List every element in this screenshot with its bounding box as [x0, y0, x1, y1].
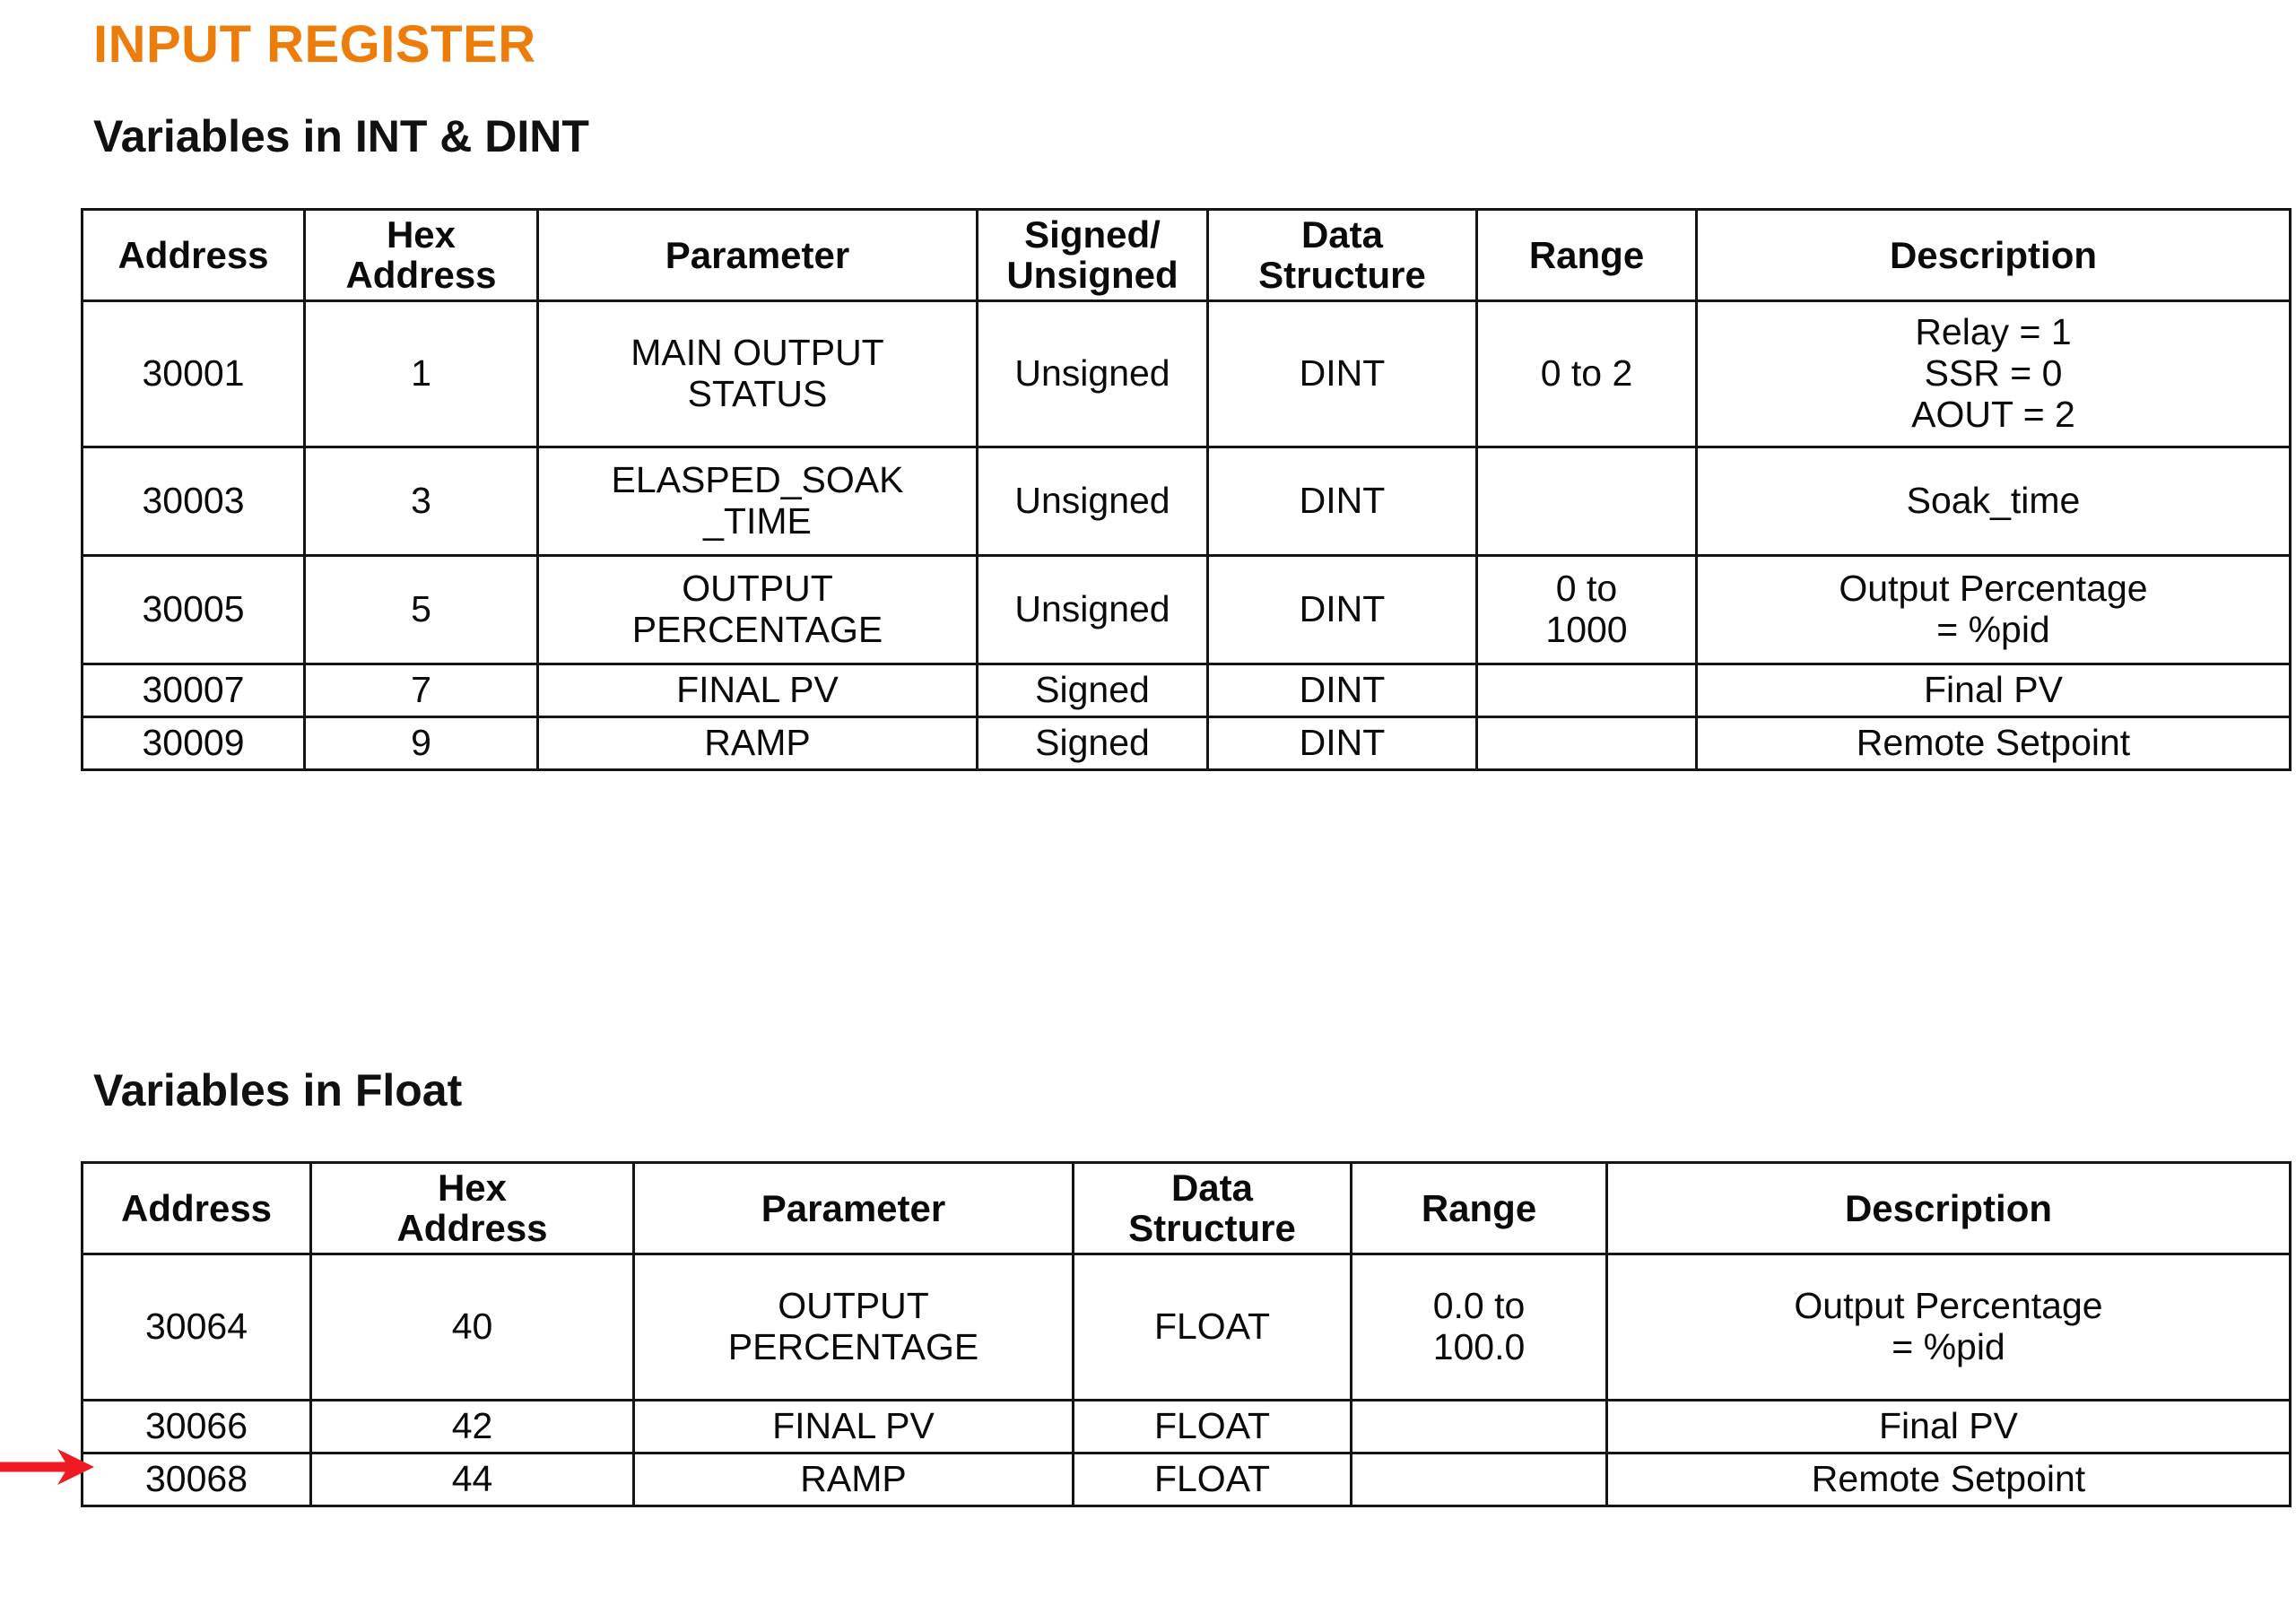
cell-signed-unsigned: Unsigned: [978, 447, 1208, 555]
cell-parameter: ELASPED_SOAK _TIME: [538, 447, 978, 555]
cell-range: [1477, 664, 1697, 716]
cell-line2: 1000: [1545, 609, 1627, 650]
column-header-address: Address: [83, 210, 305, 301]
section-heading-float: Variables in Float: [93, 1067, 462, 1115]
cell-address: 30005: [83, 555, 305, 664]
table-row: 30003 3 ELASPED_SOAK _TIME Unsigned DINT…: [83, 447, 2291, 555]
cell-hex-address: 9: [305, 716, 538, 769]
header-label: Address: [121, 1187, 272, 1229]
cell-hex-address: 42: [311, 1400, 634, 1453]
cell-range: [1352, 1453, 1607, 1506]
cell-range: 0.0 to 100.0: [1352, 1254, 1607, 1400]
header-label: Range: [1422, 1187, 1536, 1229]
cell-parameter: FINAL PV: [634, 1400, 1074, 1453]
column-header-data-structure: Data Structure: [1208, 210, 1477, 301]
table-header-row: Address Hex Address Parameter Data Struc…: [83, 1163, 2291, 1254]
cell-range: 0 to 2: [1477, 300, 1697, 447]
cell-parameter: OUTPUT PERCENTAGE: [634, 1254, 1074, 1400]
section-heading-int-dint: Variables in INT & DINT: [93, 113, 589, 161]
cell-data-structure: DINT: [1208, 716, 1477, 769]
cell-range: [1477, 716, 1697, 769]
header-label-line2: Address: [396, 1207, 547, 1249]
cell-address: 30068: [83, 1453, 311, 1506]
cell-address: 30066: [83, 1400, 311, 1453]
cell-line1: 0.0 to: [1433, 1285, 1526, 1326]
page-title: INPUT REGISTER: [93, 18, 536, 73]
cell-line2: STATUS: [688, 373, 828, 414]
cell-data-structure: FLOAT: [1074, 1400, 1352, 1453]
cell-line1: OUTPUT: [682, 568, 833, 609]
cell-line1: 0 to: [1556, 568, 1617, 609]
cell-hex-address: 44: [311, 1453, 634, 1506]
column-header-description: Description: [1697, 210, 2291, 301]
header-label-line1: Hex: [438, 1167, 507, 1209]
header-label: Address: [117, 234, 268, 276]
cell-address: 30003: [83, 447, 305, 555]
cell-line1: OUTPUT: [778, 1285, 929, 1326]
document-page: INPUT REGISTER Variables in INT & DINT A…: [0, 0, 2296, 1614]
cell-signed-unsigned: Signed: [978, 716, 1208, 769]
cell-data-structure: DINT: [1208, 555, 1477, 664]
cell-line2: = %pid: [1892, 1326, 2005, 1367]
table-row: 30068 44 RAMP FLOAT Remote Setpoint: [83, 1453, 2291, 1506]
cell-parameter: FINAL PV: [538, 664, 978, 716]
table-row: 30001 1 MAIN OUTPUT STATUS Unsigned DINT…: [83, 300, 2291, 447]
cell-range: 0 to 1000: [1477, 555, 1697, 664]
header-label-line1: Signed/: [1024, 213, 1161, 256]
cell-description: Relay = 1 SSR = 0 AOUT = 2: [1697, 300, 2291, 447]
cell-description: Final PV: [1607, 1400, 2291, 1453]
cell-hex-address: 5: [305, 555, 538, 664]
cell-line3: AOUT = 2: [1911, 394, 2075, 435]
cell-hex-address: 40: [311, 1254, 634, 1400]
cell-description: Soak_time: [1697, 447, 2291, 555]
cell-hex-address: 7: [305, 664, 538, 716]
cell-address: 30001: [83, 300, 305, 447]
cell-line2: _TIME: [703, 500, 812, 542]
cell-range: [1477, 447, 1697, 555]
header-label-line1: Data: [1171, 1167, 1253, 1209]
cell-data-structure: DINT: [1208, 664, 1477, 716]
cell-parameter: RAMP: [634, 1453, 1074, 1506]
cell-line1: MAIN OUTPUT: [631, 332, 883, 373]
header-label: Parameter: [665, 234, 849, 276]
input-register-float-table: Address Hex Address Parameter Data Struc…: [81, 1161, 2292, 1507]
cell-line1: Output Percentage: [1794, 1285, 2102, 1326]
header-label-line1: Data: [1301, 213, 1383, 256]
cell-description: Remote Setpoint: [1697, 716, 2291, 769]
cell-description: Final PV: [1697, 664, 2291, 716]
header-label: Description: [1890, 234, 2097, 276]
header-label: Description: [1845, 1187, 2052, 1229]
header-label: Parameter: [761, 1187, 945, 1229]
cell-data-structure: FLOAT: [1074, 1453, 1352, 1506]
cell-line2: PERCENTAGE: [728, 1326, 978, 1367]
table-row: 30005 5 OUTPUT PERCENTAGE Unsigned DINT …: [83, 555, 2291, 664]
cell-description: Remote Setpoint: [1607, 1453, 2291, 1506]
header-label: Range: [1529, 234, 1644, 276]
cell-line2: 100.0: [1433, 1326, 1526, 1367]
cell-hex-address: 1: [305, 300, 538, 447]
column-header-data-structure: Data Structure: [1074, 1163, 1352, 1254]
cell-line2: SSR = 0: [1925, 352, 2063, 394]
cell-line1: Output Percentage: [1839, 568, 2147, 609]
table-row: 30007 7 FINAL PV Signed DINT Final PV: [83, 664, 2291, 716]
table-header-row: Address Hex Address Parameter Signed/ Un…: [83, 210, 2291, 301]
header-label-line1: Hex: [387, 213, 456, 256]
cell-address: 30009: [83, 716, 305, 769]
header-label-line2: Unsigned: [1006, 254, 1178, 296]
cell-parameter: RAMP: [538, 716, 978, 769]
cell-address: 30007: [83, 664, 305, 716]
cell-line1: ELASPED_SOAK: [612, 459, 904, 500]
cell-range: [1352, 1400, 1607, 1453]
table-row: 30064 40 OUTPUT PERCENTAGE FLOAT 0.0 to …: [83, 1254, 2291, 1400]
cell-parameter: MAIN OUTPUT STATUS: [538, 300, 978, 447]
header-label-line2: Address: [345, 254, 496, 296]
column-header-range: Range: [1352, 1163, 1607, 1254]
header-label-line2: Structure: [1128, 1207, 1296, 1249]
column-header-address: Address: [83, 1163, 311, 1254]
table-row-highlighted: 30066 42 FINAL PV FLOAT Final PV: [83, 1400, 2291, 1453]
cell-description: Output Percentage = %pid: [1697, 555, 2291, 664]
column-header-parameter: Parameter: [538, 210, 978, 301]
cell-signed-unsigned: Unsigned: [978, 555, 1208, 664]
cell-data-structure: DINT: [1208, 300, 1477, 447]
cell-signed-unsigned: Signed: [978, 664, 1208, 716]
cell-line2: = %pid: [1936, 609, 2050, 650]
cell-hex-address: 3: [305, 447, 538, 555]
column-header-hex-address: Hex Address: [305, 210, 538, 301]
cell-signed-unsigned: Unsigned: [978, 300, 1208, 447]
input-register-int-dint-table: Address Hex Address Parameter Signed/ Un…: [81, 208, 2292, 771]
column-header-signed-unsigned: Signed/ Unsigned: [978, 210, 1208, 301]
cell-line1: Relay = 1: [1915, 311, 2071, 352]
cell-description: Output Percentage = %pid: [1607, 1254, 2291, 1400]
column-header-description: Description: [1607, 1163, 2291, 1254]
column-header-parameter: Parameter: [634, 1163, 1074, 1254]
cell-data-structure: DINT: [1208, 447, 1477, 555]
table-row: 30009 9 RAMP Signed DINT Remote Setpoint: [83, 716, 2291, 769]
header-label-line2: Structure: [1258, 254, 1426, 296]
column-header-range: Range: [1477, 210, 1697, 301]
column-header-hex-address: Hex Address: [311, 1163, 634, 1254]
cell-line2: PERCENTAGE: [632, 609, 883, 650]
cell-address: 30064: [83, 1254, 311, 1400]
cell-data-structure: FLOAT: [1074, 1254, 1352, 1400]
cell-parameter: OUTPUT PERCENTAGE: [538, 555, 978, 664]
